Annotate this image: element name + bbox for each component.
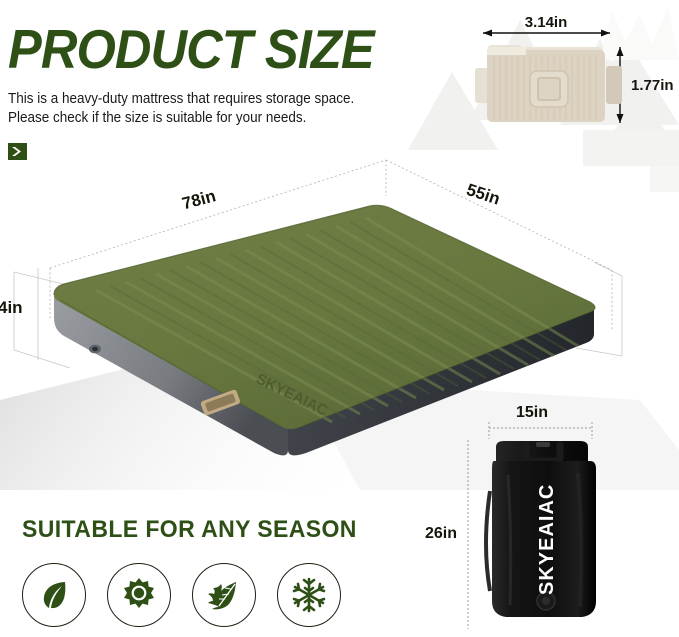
pump-height-label: 1.77in xyxy=(631,77,674,94)
bag-width-label: 15in xyxy=(516,404,548,422)
air-pump-illustration: 3.14in 1.77in xyxy=(420,0,679,160)
page-title: PRODUCT SIZE xyxy=(8,22,374,77)
season-icon-row xyxy=(22,556,362,634)
product-size-infographic: PRODUCT SIZE This is a heavy-duty mattre… xyxy=(0,0,679,637)
autumn-maple-leaf-icon xyxy=(192,563,256,627)
spring-leaf-icon xyxy=(22,563,86,627)
mattress-valve-icon xyxy=(89,345,101,354)
winter-snowflake-icon xyxy=(277,563,341,627)
subtitle-line-1: This is a heavy-duty mattress that requi… xyxy=(8,90,354,109)
season-section-title: SUITABLE FOR ANY SEASON xyxy=(22,516,357,544)
bag-height-label: 26in xyxy=(425,525,457,543)
summer-sun-icon xyxy=(107,563,171,627)
pump-width-label: 3.14in xyxy=(525,14,568,31)
dry-bag-illustration: SKYEAIAC xyxy=(420,395,679,637)
bag-width-dimension xyxy=(489,422,592,439)
bag-brand-logo: SKYEAIAC xyxy=(536,484,558,595)
subtitle-line-2: Please check if the size is suitable for… xyxy=(8,109,306,128)
mattress-thickness-label: 4in xyxy=(0,298,23,318)
